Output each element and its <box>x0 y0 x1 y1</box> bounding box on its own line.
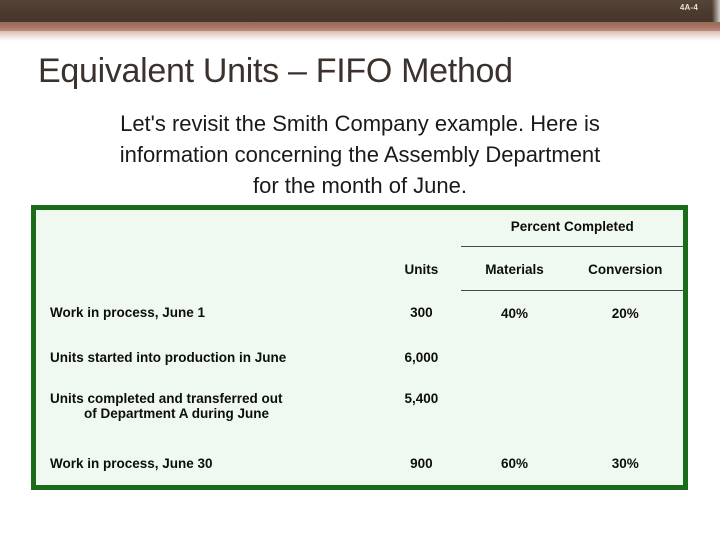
row-label: Work in process, June 30 <box>36 441 381 485</box>
row-materials: 60% <box>461 441 567 485</box>
table-column-header-row: Units Materials Conversion <box>36 247 683 291</box>
equivalent-units-table: Percent Completed Units Materials Conver… <box>36 210 683 485</box>
slide-header-bar <box>0 0 720 22</box>
row-label-line-2: of Department A during June <box>50 406 381 421</box>
table-row: Work in process, June 30 900 60% 30% <box>36 441 683 485</box>
page-title: Equivalent Units – FIFO Method <box>38 52 513 91</box>
group-header-blank-label <box>36 210 381 247</box>
subtitle-line-3: for the month of June. <box>42 170 678 201</box>
column-header-conversion: Conversion <box>568 247 683 291</box>
row-conversion: 30% <box>568 441 683 485</box>
group-header-blank-units <box>381 210 461 247</box>
row-units: 5,400 <box>381 379 461 441</box>
row-conversion <box>568 335 683 379</box>
column-header-units: Units <box>381 247 461 291</box>
data-table-container: Percent Completed Units Materials Conver… <box>31 205 688 490</box>
table-row: Work in process, June 1 300 40% 20% <box>36 291 683 336</box>
accent-band-fade <box>0 31 720 41</box>
row-materials <box>461 379 567 441</box>
subtitle-line-2: information concerning the Assembly Depa… <box>42 139 678 170</box>
row-label-multiline: Units completed and transferred out of D… <box>36 379 381 441</box>
accent-band <box>0 22 720 31</box>
row-conversion <box>568 379 683 441</box>
row-units: 6,000 <box>381 335 461 379</box>
table-row: Units started into production in June 6,… <box>36 335 683 379</box>
slide-number: 4A-4 <box>680 3 698 12</box>
slide: 4A-4 Equivalent Units – FIFO Method Let'… <box>0 0 720 539</box>
row-label: Work in process, June 1 <box>36 291 381 336</box>
row-label-line-1: Units completed and transferred out <box>50 391 283 406</box>
row-units: 900 <box>381 441 461 485</box>
table-row: Units completed and transferred out of D… <box>36 379 683 441</box>
subtitle-block: Let's revisit the Smith Company example.… <box>42 108 678 201</box>
column-header-blank <box>36 247 381 291</box>
row-conversion: 20% <box>568 291 683 336</box>
row-materials <box>461 335 567 379</box>
column-header-materials: Materials <box>461 247 567 291</box>
table-group-header-row: Percent Completed <box>36 210 683 247</box>
row-units: 300 <box>381 291 461 336</box>
row-materials: 40% <box>461 291 567 336</box>
group-header-percent-completed: Percent Completed <box>461 210 683 247</box>
subtitle-line-1: Let's revisit the Smith Company example.… <box>42 108 678 139</box>
row-label: Units started into production in June <box>36 335 381 379</box>
